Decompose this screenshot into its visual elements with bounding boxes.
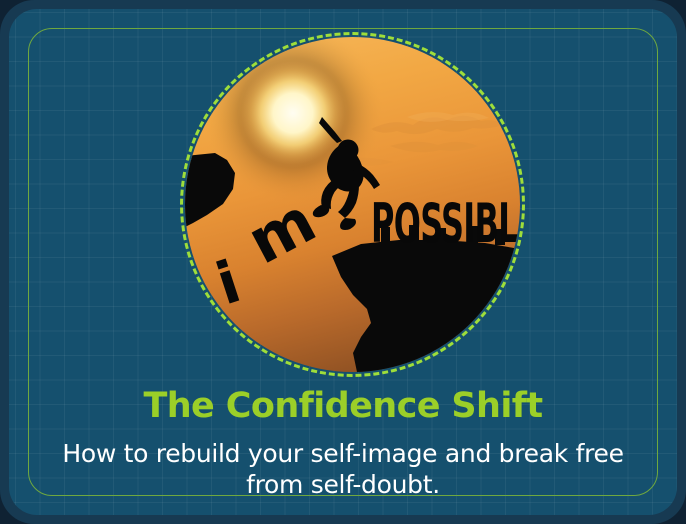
- poster-panel: POSSIBLE m i: [9, 9, 677, 515]
- hero-illustration: POSSIBLE m i: [185, 37, 520, 372]
- poster-card: POSSIBLE m i: [0, 0, 686, 524]
- cliff-word-possible: POSSIBLE: [371, 192, 520, 255]
- page-title: The Confidence Shift: [9, 388, 677, 425]
- page-subtitle: How to rebuild your self-image and break…: [51, 439, 635, 500]
- hero-circle-clip: POSSIBLE m i: [185, 37, 520, 372]
- hero-image: POSSIBLE m i: [180, 32, 525, 377]
